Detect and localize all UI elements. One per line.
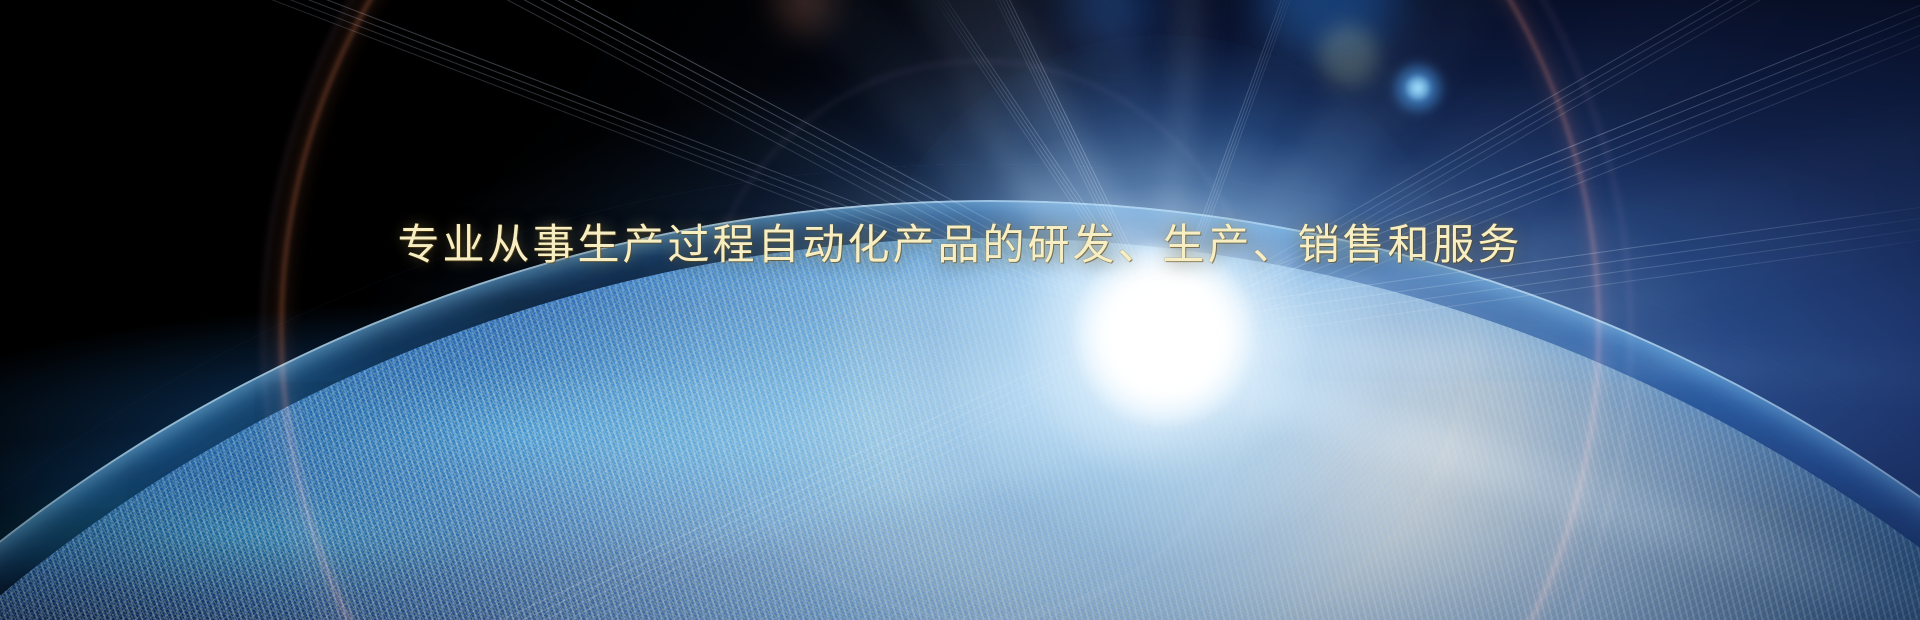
page-title: 专业从事生产过程自动化产品的研发、生产、销售和服务 — [397, 224, 1522, 266]
hero-banner: 专业从事生产过程自动化产品的研发、生产、销售和服务 — [0, 0, 1920, 620]
headline-container: 专业从事生产过程自动化产品的研发、生产、销售和服务 — [0, 196, 1920, 294]
lens-flare-bokeh-blue-core — [1405, 75, 1431, 101]
